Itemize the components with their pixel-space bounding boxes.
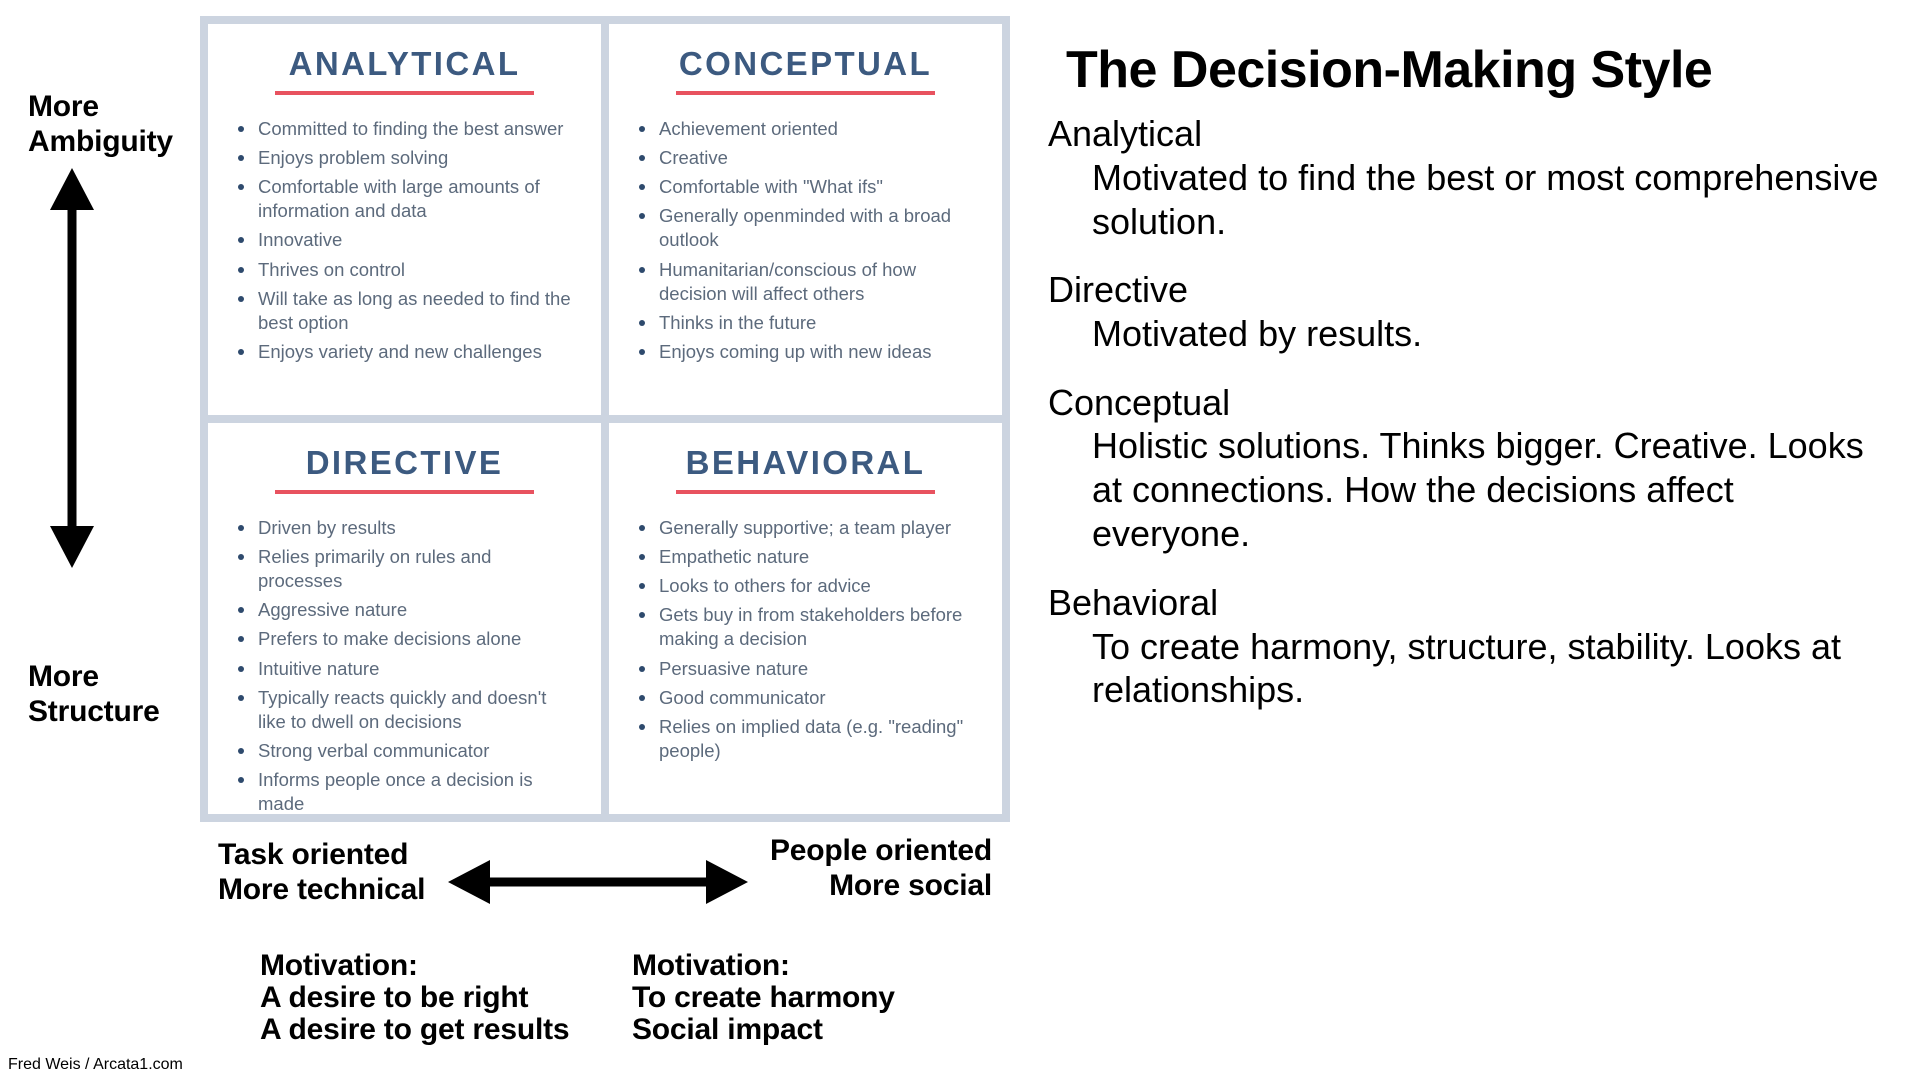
trait-item: Comfortable with large amounts of inform… <box>234 175 575 223</box>
trait-item: Humanitarian/conscious of how decision w… <box>635 258 976 306</box>
motivation-task-oriented: Motivation: A desire to be right A desir… <box>260 950 569 1045</box>
trait-item: Committed to finding the best answer <box>234 117 575 141</box>
trait-item: Good communicator <box>635 686 976 710</box>
trait-item: Intuitive nature <box>234 657 575 681</box>
trait-item: Looks to others for advice <box>635 574 976 598</box>
trait-item: Empathetic nature <box>635 545 976 569</box>
style-description: To create harmony, structure, stability.… <box>1092 625 1900 713</box>
title-underline <box>676 490 935 494</box>
quadrant-directive: DIRECTIVE Driven by results Relies prima… <box>208 423 601 814</box>
quadrant-analytical: ANALYTICAL Committed to finding the best… <box>208 24 601 415</box>
trait-item: Will take as long as needed to find the … <box>234 287 575 335</box>
trait-list: Driven by results Relies primarily on ru… <box>234 516 575 814</box>
horizontal-axis: Task oriented More technical People orie… <box>200 838 1010 928</box>
quadrant-title: ANALYTICAL <box>234 46 575 82</box>
vertical-axis-bottom-label: More Structure <box>28 660 160 730</box>
trait-list: Achievement oriented Creative Comfortabl… <box>635 117 976 363</box>
vertical-axis: More Ambiguity More Structure <box>0 90 200 760</box>
double-horizontal-arrow-icon <box>448 860 748 904</box>
style-description: Motivated by results. <box>1092 312 1900 356</box>
trait-item: Aggressive nature <box>234 598 575 622</box>
trait-item: Innovative <box>234 228 575 252</box>
quadrant-title: DIRECTIVE <box>234 445 575 481</box>
title-underline <box>275 91 534 95</box>
explanatory-panel: The Decision-Making Style Analytical Mot… <box>1048 42 1900 738</box>
quadrant-behavioral: BEHAVIORAL Generally supportive; a team … <box>609 423 1002 814</box>
trait-item: Relies on implied data (e.g. "reading" p… <box>635 715 976 763</box>
trait-list: Generally supportive; a team player Empa… <box>635 516 976 762</box>
double-vertical-arrow-icon <box>50 168 94 568</box>
trait-item: Comfortable with "What ifs" <box>635 175 976 199</box>
horizontal-axis-right-label: People oriented More social <box>770 834 992 904</box>
quadrant-conceptual: CONCEPTUAL Achievement oriented Creative… <box>609 24 1002 415</box>
horizontal-axis-left-label: Task oriented More technical <box>218 838 425 908</box>
trait-item: Thrives on control <box>234 258 575 282</box>
trait-item: Enjoys problem solving <box>234 146 575 170</box>
style-name: Behavioral <box>1048 582 1900 624</box>
style-description: Holistic solutions. Thinks bigger. Creat… <box>1092 424 1900 556</box>
decision-style-matrix: ANALYTICAL Committed to finding the best… <box>200 16 1010 822</box>
quadrant-title: BEHAVIORAL <box>635 445 976 481</box>
title-underline <box>275 490 534 494</box>
style-name: Conceptual <box>1048 382 1900 424</box>
motivation-people-oriented: Motivation: To create harmony Social imp… <box>632 950 895 1045</box>
style-name: Directive <box>1048 269 1900 311</box>
trait-item: Generally supportive; a team player <box>635 516 976 540</box>
style-entry-analytical: Analytical Motivated to find the best or… <box>1048 113 1900 243</box>
style-name: Analytical <box>1048 113 1900 155</box>
motivation-section: Motivation: A desire to be right A desir… <box>200 950 1010 1070</box>
style-entry-directive: Directive Motivated by results. <box>1048 269 1900 355</box>
trait-item: Strong verbal communicator <box>234 739 575 763</box>
vertical-axis-top-label: More Ambiguity <box>28 90 173 160</box>
trait-item: Creative <box>635 146 976 170</box>
trait-item: Typically reacts quickly and doesn't lik… <box>234 686 575 734</box>
trait-item: Generally openminded with a broad outloo… <box>635 204 976 252</box>
trait-item: Informs people once a decision is made <box>234 768 575 814</box>
style-entry-conceptual: Conceptual Holistic solutions. Thinks bi… <box>1048 382 1900 556</box>
trait-item: Persuasive nature <box>635 657 976 681</box>
quadrant-title: CONCEPTUAL <box>635 46 976 82</box>
trait-item: Prefers to make decisions alone <box>234 627 575 651</box>
trait-item: Relies primarily on rules and processes <box>234 545 575 593</box>
trait-item: Achievement oriented <box>635 117 976 141</box>
title-underline <box>676 91 935 95</box>
trait-item: Thinks in the future <box>635 311 976 335</box>
trait-item: Enjoys coming up with new ideas <box>635 340 976 364</box>
credit-line: Fred Weis / Arcata1.com <box>8 1056 183 1074</box>
style-entry-behavioral: Behavioral To create harmony, structure,… <box>1048 582 1900 712</box>
trait-item: Driven by results <box>234 516 575 540</box>
trait-list: Committed to finding the best answer Enj… <box>234 117 575 363</box>
trait-item: Enjoys variety and new challenges <box>234 340 575 364</box>
page-title: The Decision-Making Style <box>1066 42 1900 99</box>
style-description: Motivated to find the best or most compr… <box>1092 156 1900 244</box>
trait-item: Gets buy in from stakeholders before mak… <box>635 603 976 651</box>
